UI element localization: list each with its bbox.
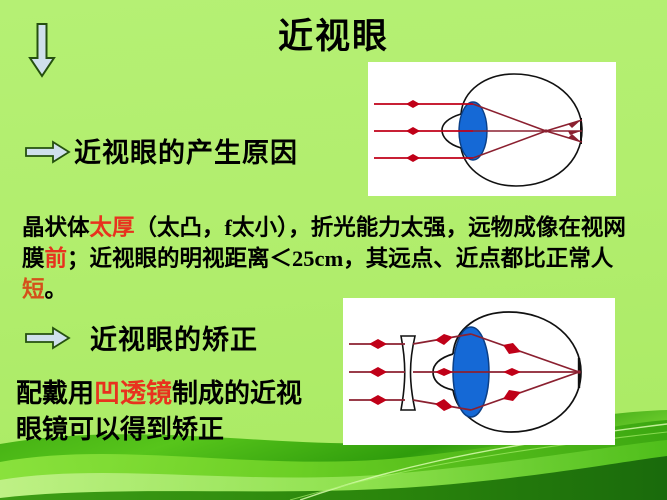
cause-line1-latin: f xyxy=(225,215,233,240)
cause-line1-highlight: 太厚 xyxy=(90,215,135,240)
correction-part-a: 配戴用 xyxy=(16,379,94,408)
concave-lens xyxy=(401,336,415,410)
paragraph-myopia-correction: 配戴用凹透镜制成的近视眼镜可以得到矫正 xyxy=(16,376,326,448)
cause-line1-part-a: 晶状体 xyxy=(22,215,90,240)
converging-ray-arrowheads xyxy=(503,343,521,401)
heading-myopia-correction: 近视眼的矫正 xyxy=(90,318,258,357)
heading-cause-of-myopia: 近视眼的产生原因 xyxy=(74,131,298,170)
correction-highlight: 凹透镜 xyxy=(94,379,172,408)
cause-line2-part-c: ，其远 xyxy=(343,246,411,271)
arrow-right-icon xyxy=(24,325,71,351)
cause-line2-part-b: ；近视眼的明视距离＜ xyxy=(67,246,292,271)
image-point-on-retina xyxy=(577,370,581,374)
cause-line2-highlight: 前 xyxy=(45,246,68,271)
incoming-ray-arrowheads xyxy=(369,339,387,405)
cause-line3-part-b: 。 xyxy=(45,277,68,302)
cause-line1-part-c: 太小），折光能力太强，远物 xyxy=(232,215,513,240)
refracted-rays xyxy=(473,104,582,158)
focal-point xyxy=(544,129,547,132)
myopia-eye-diagram xyxy=(368,62,616,196)
myopia-eye-svg xyxy=(368,62,616,196)
diverged-ray-arrowheads xyxy=(435,334,453,411)
corrected-eye-diagram xyxy=(343,298,615,445)
incoming-rays xyxy=(374,104,473,158)
cause-line3-part-a: 点、近点都比正常人 xyxy=(411,246,614,271)
slide-canvas: 近视眼 近视眼的产生原因 晶状体太厚（太凸，f太小），折光能力太强，远物成像在视… xyxy=(0,0,667,500)
cause-line3-highlight: 短 xyxy=(22,277,45,302)
paragraph-cause-of-myopia: 晶状体太厚（太凸，f太小），折光能力太强，远物成像在视网膜前；近视眼的明视距离＜… xyxy=(22,212,647,305)
corrected-eye-svg xyxy=(343,298,615,445)
cause-line2-latin: 25cm xyxy=(292,246,343,271)
arrow-right-icon xyxy=(24,139,71,165)
page-title: 近视眼 xyxy=(0,18,667,57)
converging-rays xyxy=(471,334,579,410)
cause-line1-part-b: （太凸， xyxy=(135,215,225,240)
incoming-ray-arrowheads xyxy=(406,100,420,162)
